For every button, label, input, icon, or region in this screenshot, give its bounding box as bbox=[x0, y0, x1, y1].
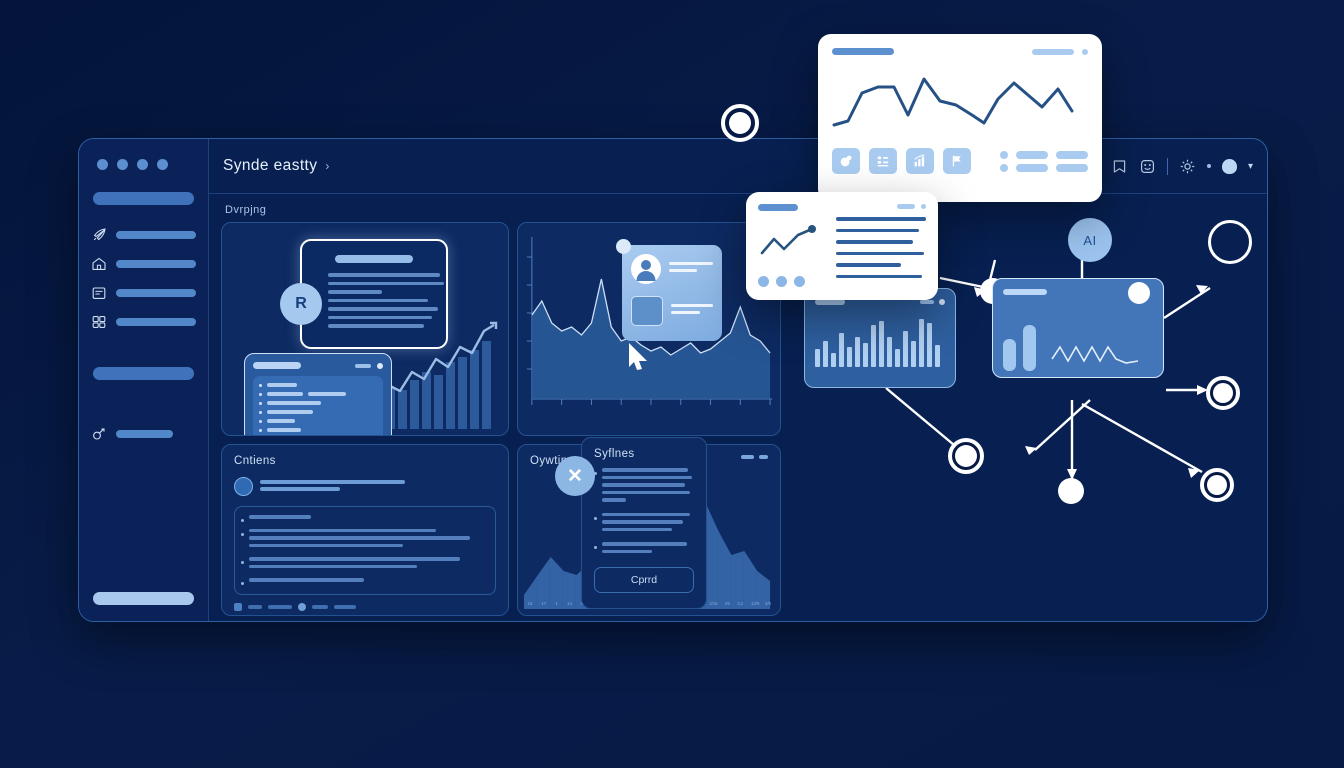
bookmark-icon[interactable] bbox=[1111, 158, 1128, 175]
svg-text:17: 17 bbox=[541, 601, 546, 606]
floating-line-chart bbox=[832, 65, 1084, 135]
card-legend-list bbox=[1000, 151, 1088, 172]
list-panel-meta-bar bbox=[355, 364, 371, 368]
list-item[interactable] bbox=[259, 401, 377, 405]
list-item[interactable] bbox=[241, 578, 489, 586]
panel-footer bbox=[234, 603, 508, 611]
link-icon bbox=[91, 426, 107, 442]
list-item[interactable] bbox=[259, 410, 377, 414]
list-item[interactable] bbox=[259, 428, 377, 432]
card-status-dot bbox=[939, 299, 945, 305]
rocket-icon bbox=[91, 227, 107, 243]
floating-card-summary[interactable] bbox=[746, 192, 938, 300]
graph-node-ring[interactable] bbox=[1200, 468, 1234, 502]
list-item[interactable] bbox=[259, 419, 377, 423]
panel-title: Cntiens bbox=[234, 455, 508, 467]
list-icon[interactable] bbox=[869, 148, 897, 174]
sidebar-item-label bbox=[116, 318, 196, 326]
note-text-line bbox=[328, 290, 382, 294]
window-dot[interactable] bbox=[117, 159, 128, 170]
card-status-dot bbox=[1082, 49, 1088, 55]
bar-chart bbox=[815, 319, 945, 367]
window-controls[interactable] bbox=[97, 159, 196, 170]
contact-row[interactable] bbox=[234, 477, 508, 496]
graph-node-ring[interactable] bbox=[948, 438, 984, 474]
status-dot bbox=[1207, 164, 1211, 168]
list-panel-header bbox=[253, 362, 383, 369]
home-icon bbox=[91, 256, 107, 272]
graph-node-ring[interactable] bbox=[1206, 376, 1240, 410]
cursor-icon bbox=[626, 341, 652, 371]
breadcrumb[interactable]: Synde eastty bbox=[223, 157, 317, 175]
note-text-line bbox=[328, 324, 424, 328]
graph-node-top[interactable] bbox=[721, 104, 759, 142]
list-item[interactable] bbox=[594, 513, 694, 536]
list-panel-body bbox=[253, 376, 383, 436]
confirm-button[interactable]: Cprrd bbox=[594, 567, 694, 593]
sidebar-item-link[interactable] bbox=[91, 426, 196, 442]
block-chart bbox=[1003, 325, 1036, 371]
card-text-line bbox=[836, 252, 924, 256]
card-meta-bar bbox=[897, 204, 915, 209]
card-text-line bbox=[836, 275, 922, 279]
card-tiles bbox=[832, 148, 1088, 174]
list-panel-title-bar bbox=[253, 362, 301, 369]
list-item[interactable] bbox=[241, 557, 489, 572]
panel-title: Syflnes bbox=[594, 448, 706, 460]
card-title-bar bbox=[758, 204, 798, 211]
avatar bbox=[631, 254, 661, 284]
sidebar-item-home[interactable] bbox=[91, 256, 196, 272]
sidebar bbox=[79, 139, 209, 621]
card-meta-bar bbox=[1032, 49, 1074, 55]
topbar: Synde eastty › ▾ bbox=[209, 139, 1267, 194]
list-item[interactable] bbox=[594, 542, 694, 557]
inbox-icon bbox=[91, 285, 107, 301]
tag-icon bbox=[234, 603, 242, 611]
window-dot[interactable] bbox=[97, 159, 108, 170]
ai-node[interactable]: AI bbox=[1068, 218, 1112, 262]
graph-node[interactable] bbox=[1058, 478, 1084, 504]
highlighted-note-card[interactable]: R bbox=[300, 239, 448, 349]
list-item[interactable] bbox=[259, 383, 377, 387]
note-text-line bbox=[328, 307, 438, 311]
card-text-line bbox=[836, 240, 913, 244]
avatar[interactable] bbox=[1222, 159, 1237, 174]
card-meta-bar bbox=[920, 300, 934, 304]
card-title-bar bbox=[832, 48, 894, 55]
bar-chart-icon[interactable] bbox=[906, 148, 934, 174]
sidebar-item-label bbox=[116, 289, 196, 297]
sidebar-item-grid[interactable] bbox=[91, 314, 196, 330]
list-item[interactable] bbox=[241, 515, 489, 523]
note-title-bar bbox=[335, 255, 413, 263]
window-dot[interactable] bbox=[137, 159, 148, 170]
contacts-list bbox=[234, 506, 496, 595]
note-text-line bbox=[328, 273, 440, 277]
panel-syntheses: Syflnes bbox=[581, 437, 707, 609]
panel-trend-legend bbox=[741, 455, 768, 459]
svg-text:29: 29 bbox=[725, 601, 730, 606]
list-panel[interactable] bbox=[244, 353, 392, 436]
flag-icon[interactable] bbox=[943, 148, 971, 174]
svg-text:1: 1 bbox=[555, 601, 558, 606]
graph-node[interactable] bbox=[1128, 282, 1150, 304]
graph-node-outline[interactable] bbox=[1208, 220, 1252, 264]
profile-preview-card[interactable] bbox=[622, 245, 722, 341]
list-item[interactable] bbox=[241, 529, 489, 552]
list-item[interactable] bbox=[594, 468, 694, 506]
panel-analytics bbox=[517, 222, 781, 436]
chevron-down-icon[interactable]: ▾ bbox=[1248, 161, 1253, 172]
sidebar-item-label bbox=[116, 231, 196, 239]
svg-text:18: 18 bbox=[527, 601, 532, 606]
card-drag-handle[interactable] bbox=[616, 239, 631, 254]
svg-text:2/15: 2/15 bbox=[709, 601, 718, 606]
floating-card-analytics[interactable] bbox=[818, 34, 1102, 202]
network-card-bars[interactable] bbox=[804, 288, 956, 388]
card-text-line bbox=[836, 217, 926, 221]
thumbnail bbox=[631, 296, 663, 326]
sidebar-primary-button[interactable] bbox=[93, 192, 194, 205]
list-panel-status-dot bbox=[377, 363, 383, 369]
note-text-line bbox=[328, 316, 432, 320]
toolbar-divider bbox=[1167, 158, 1168, 175]
grid-icon bbox=[91, 314, 107, 330]
card-dots bbox=[758, 276, 824, 287]
note-text-line bbox=[328, 282, 444, 286]
card-text-line bbox=[836, 229, 919, 233]
sidebar-item-label bbox=[116, 260, 196, 268]
close-icon[interactable]: ✕ bbox=[555, 456, 595, 496]
svg-text:14: 14 bbox=[567, 601, 572, 606]
card-text-line bbox=[836, 263, 901, 267]
note-text-line bbox=[328, 299, 428, 303]
card-title-bar bbox=[1003, 289, 1047, 295]
sparkline-chart bbox=[758, 223, 820, 257]
sidebar-item-rocket[interactable] bbox=[91, 227, 196, 243]
avatar bbox=[234, 477, 253, 496]
sidebar-secondary-button[interactable] bbox=[93, 367, 194, 380]
tag-icon bbox=[298, 603, 306, 611]
gear-icon[interactable] bbox=[1179, 158, 1196, 175]
topbar-actions: ▾ bbox=[1111, 158, 1253, 175]
window-dot[interactable] bbox=[157, 159, 168, 170]
sidebar-item-inbox[interactable] bbox=[91, 285, 196, 301]
sidebar-footer-button[interactable] bbox=[93, 592, 194, 605]
list-item[interactable] bbox=[259, 392, 377, 396]
smiley-icon[interactable] bbox=[1139, 158, 1156, 175]
chevron-right-icon: › bbox=[325, 159, 329, 173]
panel-contacts: Cntiens bbox=[221, 444, 509, 616]
svg-text:3/0: 3/0 bbox=[765, 601, 772, 606]
svg-text:3,2: 3,2 bbox=[737, 601, 744, 606]
avatar-badge[interactable]: R bbox=[280, 283, 322, 325]
card-status-dot bbox=[921, 204, 926, 209]
bubble-icon[interactable] bbox=[832, 148, 860, 174]
panel-overview: R bbox=[221, 222, 509, 436]
svg-text:13/9: 13/9 bbox=[751, 601, 760, 606]
sidebar-item-label bbox=[116, 430, 173, 438]
wave-chart bbox=[1050, 337, 1146, 371]
